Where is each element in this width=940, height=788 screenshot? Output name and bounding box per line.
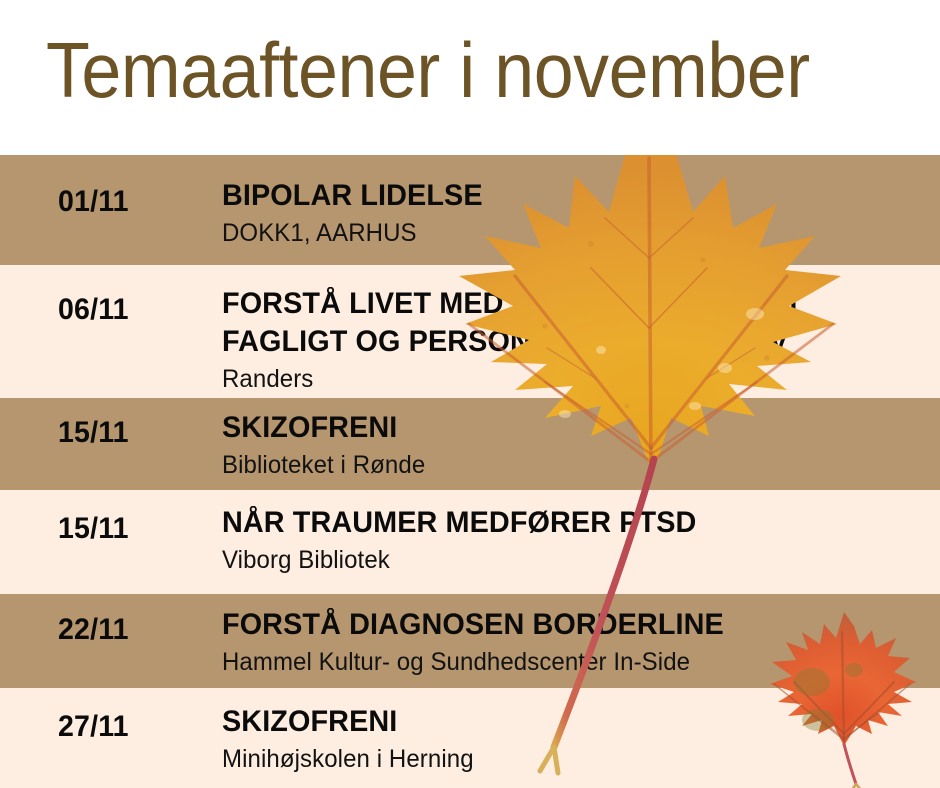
event-venue: Hammel Kultur- og Sundhedscenter In-Side <box>222 646 902 678</box>
event-title: SKIZOFRENI <box>222 703 902 741</box>
event-venue: Viborg Bibliotek <box>222 544 902 576</box>
event-row: 01/11 BIPOLAR LIDELSE DOKK1, AARHUS <box>0 155 940 265</box>
event-date: 22/11 <box>58 613 201 647</box>
event-title: NÅR TRAUMER MEDFØRER PTSD <box>222 504 902 542</box>
event-date: 15/11 <box>58 512 201 546</box>
event-row: 06/11 FORSTÅ LIVET MED AUTISME UD FRA ET… <box>0 265 940 398</box>
event-title: SKIZOFRENI <box>222 409 902 447</box>
event-date: 27/11 <box>58 710 201 744</box>
event-row: 27/11 SKIZOFRENI Minihøjskolen i Herning <box>0 688 940 788</box>
page-title: Temaaftener i november <box>46 22 810 118</box>
event-venue: Minihøjskolen i Herning <box>222 743 902 775</box>
event-venue: Randers <box>222 363 902 395</box>
event-date: 01/11 <box>58 185 201 219</box>
event-title: FORSTÅ LIVET MED AUTISME UD FRA ET FAGLI… <box>222 285 902 361</box>
event-details: SKIZOFRENI Biblioteket i Rønde <box>222 409 930 481</box>
event-date: 15/11 <box>58 416 201 450</box>
event-row: 22/11 FORSTÅ DIAGNOSEN BORDERLINE Hammel… <box>0 594 940 688</box>
event-title: FORSTÅ DIAGNOSEN BORDERLINE <box>222 606 902 644</box>
event-details: FORSTÅ DIAGNOSEN BORDERLINE Hammel Kultu… <box>222 606 930 678</box>
title-band: Temaaftener i november <box>0 0 940 155</box>
event-details: SKIZOFRENI Minihøjskolen i Herning <box>222 703 930 775</box>
event-details: FORSTÅ LIVET MED AUTISME UD FRA ET FAGLI… <box>222 285 930 395</box>
event-list: 01/11 BIPOLAR LIDELSE DOKK1, AARHUS 06/1… <box>0 155 940 788</box>
event-row: 15/11 NÅR TRAUMER MEDFØRER PTSD Viborg B… <box>0 490 940 594</box>
event-details: NÅR TRAUMER MEDFØRER PTSD Viborg Bibliot… <box>222 504 930 576</box>
event-row: 15/11 SKIZOFRENI Biblioteket i Rønde <box>0 398 940 490</box>
event-title: BIPOLAR LIDELSE <box>222 177 902 215</box>
event-venue: DOKK1, AARHUS <box>222 217 902 249</box>
poster-canvas: 01/11 BIPOLAR LIDELSE DOKK1, AARHUS 06/1… <box>0 0 940 788</box>
event-details: BIPOLAR LIDELSE DOKK1, AARHUS <box>222 177 930 249</box>
event-venue: Biblioteket i Rønde <box>222 449 902 481</box>
event-date: 06/11 <box>58 293 201 327</box>
